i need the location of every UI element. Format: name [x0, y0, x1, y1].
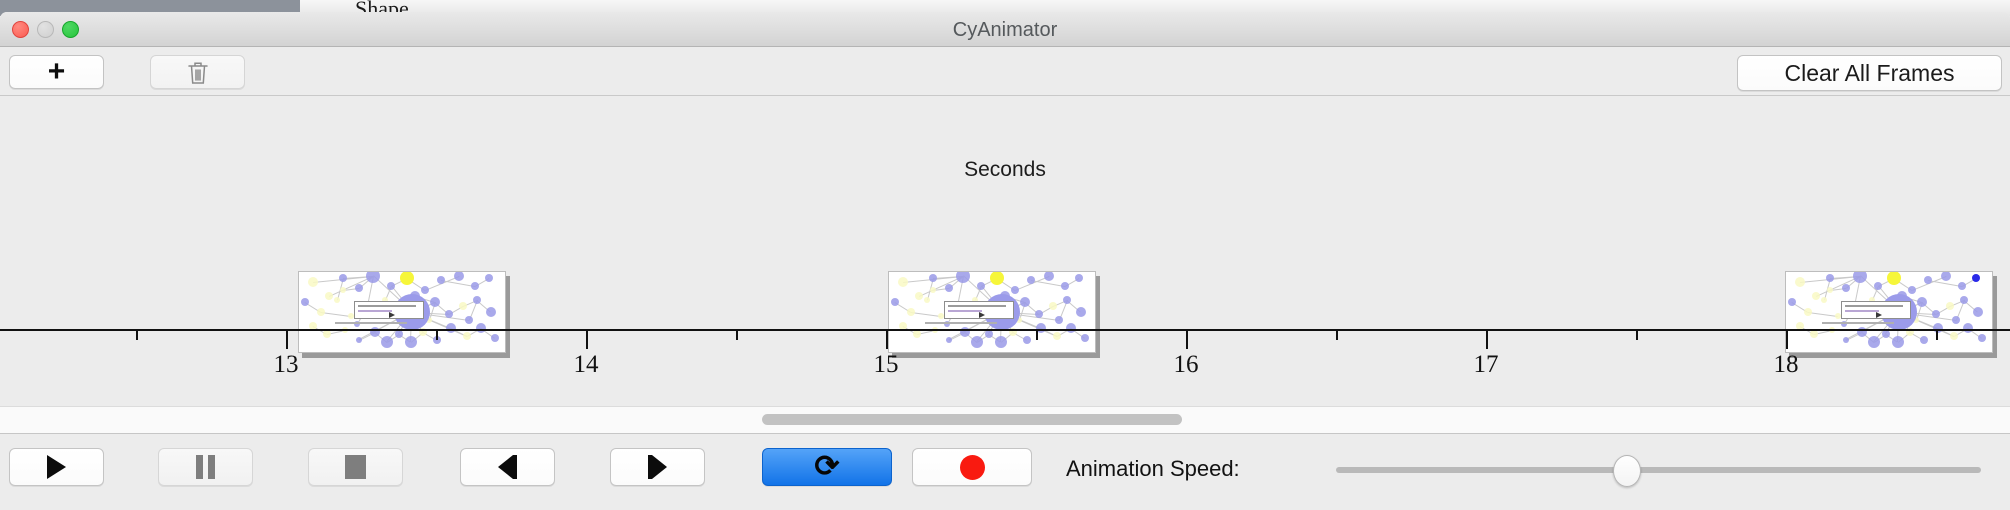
ruler-tick-label: 17 — [1474, 351, 1499, 379]
network-node — [1842, 284, 1850, 292]
network-node — [459, 302, 467, 310]
add-frame-button[interactable]: + — [9, 55, 104, 89]
record-icon — [960, 455, 985, 480]
ruler-minor-tick — [1336, 331, 1338, 340]
network-node — [473, 296, 481, 304]
network-node — [1011, 286, 1019, 294]
stop-icon — [345, 455, 366, 479]
network-node — [1035, 310, 1043, 318]
ruler-major-tick — [1786, 331, 1788, 349]
network-node — [1952, 316, 1960, 324]
network-node — [1020, 297, 1030, 307]
loop-icon: ⟳ — [814, 452, 839, 482]
network-edge — [441, 280, 475, 287]
network-node — [1821, 297, 1827, 303]
ruler-minor-tick — [736, 331, 738, 340]
ruler-tick-label: 18 — [1774, 351, 1799, 379]
network-node — [1917, 297, 1927, 307]
network-edge — [1808, 312, 1838, 317]
toolbar: + Clear All Frames — [0, 47, 2010, 96]
ruler-minor-tick — [136, 331, 138, 340]
loop-button[interactable]: ⟳ — [762, 448, 892, 486]
network-node — [485, 274, 493, 282]
ruler-tick-label: 15 — [874, 351, 899, 379]
callout-arrow-icon — [1876, 312, 1882, 318]
network-node — [915, 292, 923, 300]
network-node — [317, 308, 325, 316]
network-node — [924, 297, 930, 303]
ruler-tick-label: 16 — [1174, 351, 1199, 379]
network-node — [1061, 282, 1069, 290]
network-node — [1958, 282, 1966, 290]
network-node — [990, 271, 1004, 285]
ruler-major-tick — [586, 331, 588, 349]
network-node — [1795, 277, 1805, 287]
horizontal-scrollbar[interactable] — [0, 406, 2010, 434]
network-node — [929, 274, 937, 282]
network-edge — [321, 312, 351, 317]
network-node — [1973, 307, 1983, 317]
network-node — [1812, 292, 1820, 300]
network-node — [325, 292, 333, 300]
skip-to-start-button[interactable] — [460, 448, 555, 486]
network-edge — [911, 312, 941, 317]
network-node — [977, 282, 985, 290]
network-node — [1076, 307, 1086, 317]
ruler-tick-label: 13 — [274, 351, 299, 379]
ruler-minor-tick — [1636, 331, 1638, 340]
network-node — [454, 271, 464, 281]
network-node — [445, 310, 453, 318]
callout-arrow-icon — [979, 312, 985, 318]
pause-button[interactable] — [158, 448, 253, 486]
network-node — [339, 274, 347, 282]
network-node — [1804, 308, 1812, 316]
playback-controls: ⟳ Animation Speed: — [0, 434, 2010, 504]
network-node — [1075, 274, 1083, 282]
callout-arrow-icon — [389, 312, 395, 318]
slider-thumb[interactable] — [1613, 455, 1641, 487]
cyanimator-window: CyAnimator + Clear All Frames MCM1MCM1MC… — [0, 12, 2010, 510]
network-node — [1049, 302, 1057, 310]
network-node — [301, 298, 309, 306]
stop-button[interactable] — [308, 448, 403, 486]
play-icon — [47, 455, 66, 479]
skip-to-end-button[interactable] — [610, 448, 705, 486]
network-edge — [1928, 280, 1962, 287]
timeline-ruler: 2131415161718 — [0, 329, 2010, 406]
network-node — [898, 277, 908, 287]
network-node — [1063, 296, 1071, 304]
ruler-axis-line — [0, 329, 2010, 331]
network-node — [421, 286, 429, 294]
pause-icon — [196, 455, 215, 479]
network-node — [1941, 271, 1951, 281]
title-bar: CyAnimator — [0, 12, 2010, 47]
network-node — [430, 297, 440, 307]
ruler-major-tick — [1186, 331, 1188, 349]
network-node — [400, 271, 414, 285]
network-node — [1972, 274, 1980, 282]
axis-title: Seconds — [0, 158, 2010, 182]
network-edge — [1031, 280, 1065, 287]
network-node — [334, 297, 340, 303]
plus-icon: + — [48, 57, 66, 87]
network-node — [437, 276, 445, 284]
network-node — [1960, 296, 1968, 304]
network-node — [471, 282, 479, 290]
network-caption — [925, 322, 997, 324]
network-node — [486, 307, 496, 317]
ruler-minor-tick — [1036, 331, 1038, 340]
ruler-major-tick — [886, 331, 888, 349]
network-node — [945, 284, 953, 292]
clear-all-frames-button[interactable]: Clear All Frames — [1737, 55, 2002, 91]
clear-all-frames-label: Clear All Frames — [1785, 60, 1955, 87]
animation-speed-slider[interactable] — [1336, 467, 1981, 473]
network-node — [465, 316, 473, 324]
trash-icon — [187, 60, 209, 85]
record-button[interactable] — [912, 448, 1032, 486]
skip-forward-icon — [648, 455, 667, 479]
scrollbar-thumb[interactable] — [762, 414, 1182, 425]
network-node — [355, 284, 363, 292]
network-node — [1946, 302, 1954, 310]
network-node — [308, 277, 318, 287]
network-node — [1044, 271, 1054, 281]
network-node — [1055, 316, 1063, 324]
network-node — [930, 287, 936, 293]
network-node — [1027, 276, 1035, 284]
network-caption — [1822, 322, 1894, 324]
network-node — [1924, 276, 1932, 284]
network-node — [1788, 298, 1796, 306]
animation-speed-label: Animation Speed: — [1066, 456, 1240, 482]
network-node — [340, 287, 346, 293]
cyanimator-app: Shape CyAnimator + Clear All Frames — [0, 0, 2010, 510]
play-button[interactable] — [9, 448, 104, 486]
network-node — [1887, 271, 1901, 285]
network-node — [1827, 287, 1833, 293]
ruler-major-tick — [286, 331, 288, 349]
ruler-minor-tick — [436, 331, 438, 340]
ruler-major-tick — [1486, 331, 1488, 349]
skip-backward-icon — [498, 455, 517, 479]
ruler-tick-label: 14 — [574, 351, 599, 379]
network-node — [891, 298, 899, 306]
network-node — [1874, 282, 1882, 290]
network-node — [1932, 310, 1940, 318]
network-node — [907, 308, 915, 316]
timeline-area[interactable]: MCM1MCM1MCM1 2131415161718 Seconds — [0, 96, 2010, 406]
ruler-minor-tick — [1936, 331, 1938, 340]
network-node — [1908, 286, 1916, 294]
delete-frame-button[interactable] — [150, 55, 245, 89]
network-node — [387, 282, 395, 290]
window-title: CyAnimator — [0, 19, 2010, 42]
network-caption — [335, 322, 407, 324]
network-node — [1826, 274, 1834, 282]
